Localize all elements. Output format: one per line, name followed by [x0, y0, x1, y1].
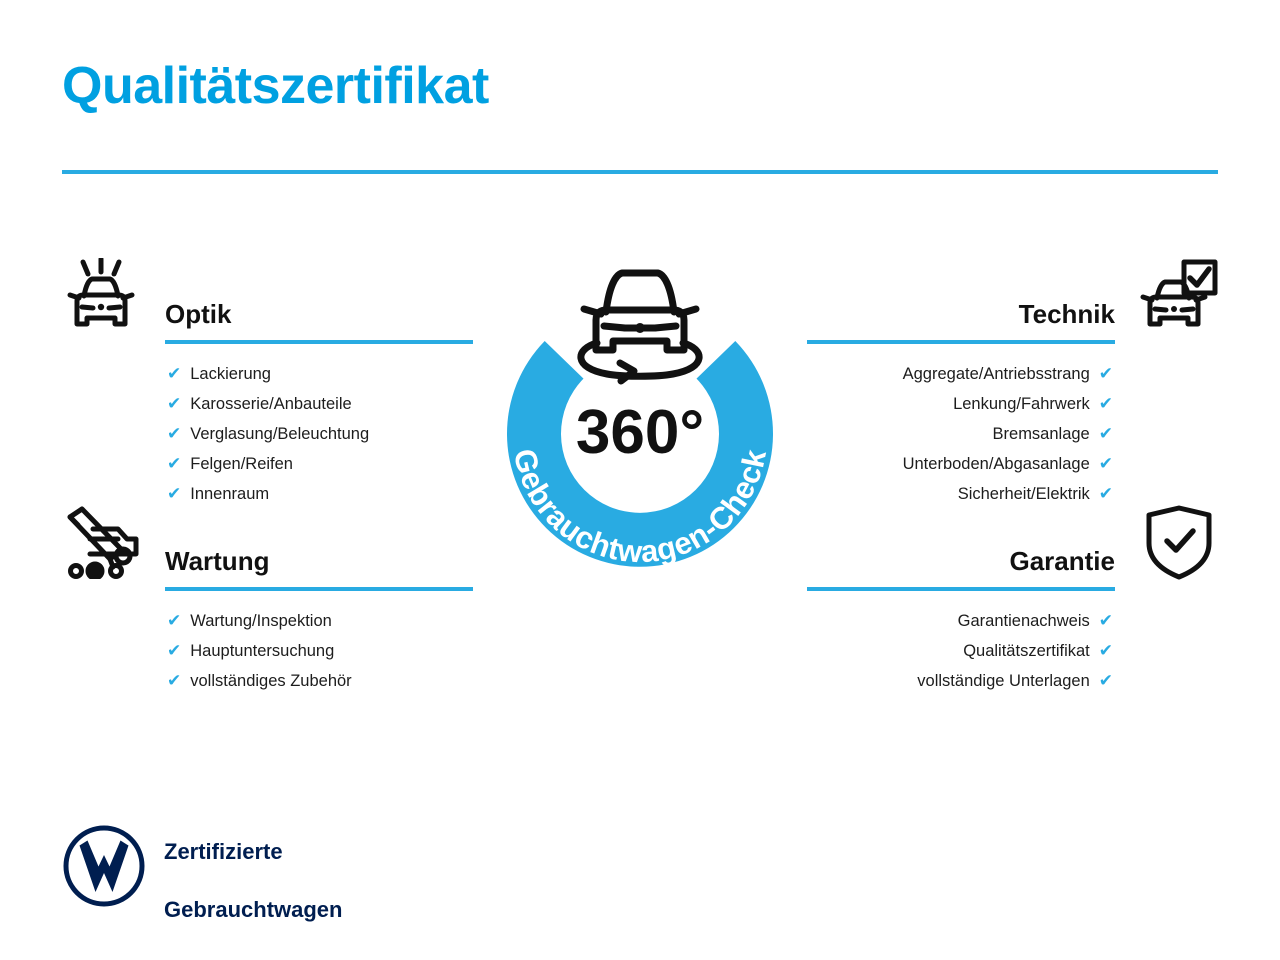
- check-icon: ✔: [1099, 419, 1113, 449]
- check-icon: ✔: [1099, 449, 1113, 479]
- section-garantie: Garantie Garantienachweis ✔ Qualitätszer…: [755, 502, 1225, 670]
- section-technik-divider: [807, 340, 1115, 344]
- section-wartung-title: Wartung: [165, 548, 269, 574]
- footer-logo: Zertifizierte Gebrauchtwagen: [62, 808, 342, 924]
- list-item-label: Hauptuntersuchung: [190, 636, 334, 666]
- list-item-label: Aggregate/Antriebsstrang: [903, 359, 1090, 389]
- list-item: ✔ Hauptuntersuchung: [167, 636, 525, 666]
- list-item-label: Wartung/Inspektion: [190, 606, 332, 636]
- check-icon: ✔: [167, 606, 181, 636]
- badge-center-label: 360°: [576, 398, 704, 467]
- list-item-label: Karosserie/Anbauteile: [190, 389, 351, 419]
- list-item-label: Lackierung: [190, 359, 271, 389]
- list-item-label: Unterboden/Abgasanlage: [903, 449, 1090, 479]
- section-optik-title: Optik: [165, 301, 231, 327]
- section-garantie-title: Garantie: [1010, 548, 1116, 574]
- list-item-label: vollständiges Zubehör: [190, 666, 351, 696]
- list-item-label: Bremsanlage: [993, 419, 1090, 449]
- check-icon: ✔: [167, 449, 181, 479]
- check-icon: ✔: [1099, 606, 1113, 636]
- footer-logo-line1: Zertifizierte: [164, 839, 283, 864]
- list-item-label: vollständige Unterlagen: [917, 666, 1089, 696]
- section-garantie-list: Garantienachweis ✔ Qualitätszertifikat ✔…: [755, 606, 1225, 696]
- volkswagen-logo: [62, 824, 146, 908]
- section-technik-header: Technik: [755, 255, 1225, 333]
- badge-360-gebrauchtwagen-check: Gebrauchtwagen-Check 360°: [455, 250, 825, 620]
- car-shine-icon: [55, 255, 147, 335]
- check-icon: ✔: [167, 389, 181, 419]
- list-item: Qualitätszertifikat ✔: [755, 636, 1113, 666]
- car-rotate-360-icon: [581, 273, 699, 381]
- footer-logo-line2: Gebrauchtwagen: [164, 897, 342, 922]
- check-icon: ✔: [167, 636, 181, 666]
- check-icon: ✔: [1099, 666, 1113, 696]
- car-checkbox-icon: [1133, 255, 1225, 335]
- header-divider: [62, 170, 1218, 174]
- list-item-label: Garantienachweis: [958, 606, 1090, 636]
- check-icon: ✔: [167, 359, 181, 389]
- section-optik-divider: [165, 340, 473, 344]
- check-icon: ✔: [167, 419, 181, 449]
- check-icon: ✔: [1099, 389, 1113, 419]
- footer-logo-text: Zertifizierte Gebrauchtwagen: [164, 808, 342, 924]
- pencil-car-checklist-icon: [55, 502, 147, 582]
- list-item-label: Qualitätszertifikat: [963, 636, 1090, 666]
- section-technik-list: Aggregate/Antriebsstrang ✔ Lenkung/Fahrw…: [755, 359, 1225, 509]
- list-item-label: Felgen/Reifen: [190, 449, 293, 479]
- section-technik: Technik Aggregate/Antriebsstrang ✔ Lenku…: [755, 255, 1225, 483]
- list-item: ✔ vollständiges Zubehör: [167, 666, 525, 696]
- section-wartung-divider: [165, 587, 473, 591]
- section-garantie-header: Garantie: [755, 502, 1225, 580]
- check-icon: ✔: [1099, 359, 1113, 389]
- list-item-label: Lenkung/Fahrwerk: [953, 389, 1090, 419]
- shield-check-icon: [1133, 502, 1225, 582]
- section-garantie-divider: [807, 587, 1115, 591]
- section-technik-title: Technik: [1019, 301, 1115, 327]
- check-icon: ✔: [167, 666, 181, 696]
- page-title: Qualitätszertifikat: [62, 58, 489, 115]
- check-icon: ✔: [1099, 636, 1113, 666]
- list-item: vollständige Unterlagen ✔: [755, 666, 1113, 696]
- list-item-label: Verglasung/Beleuchtung: [190, 419, 369, 449]
